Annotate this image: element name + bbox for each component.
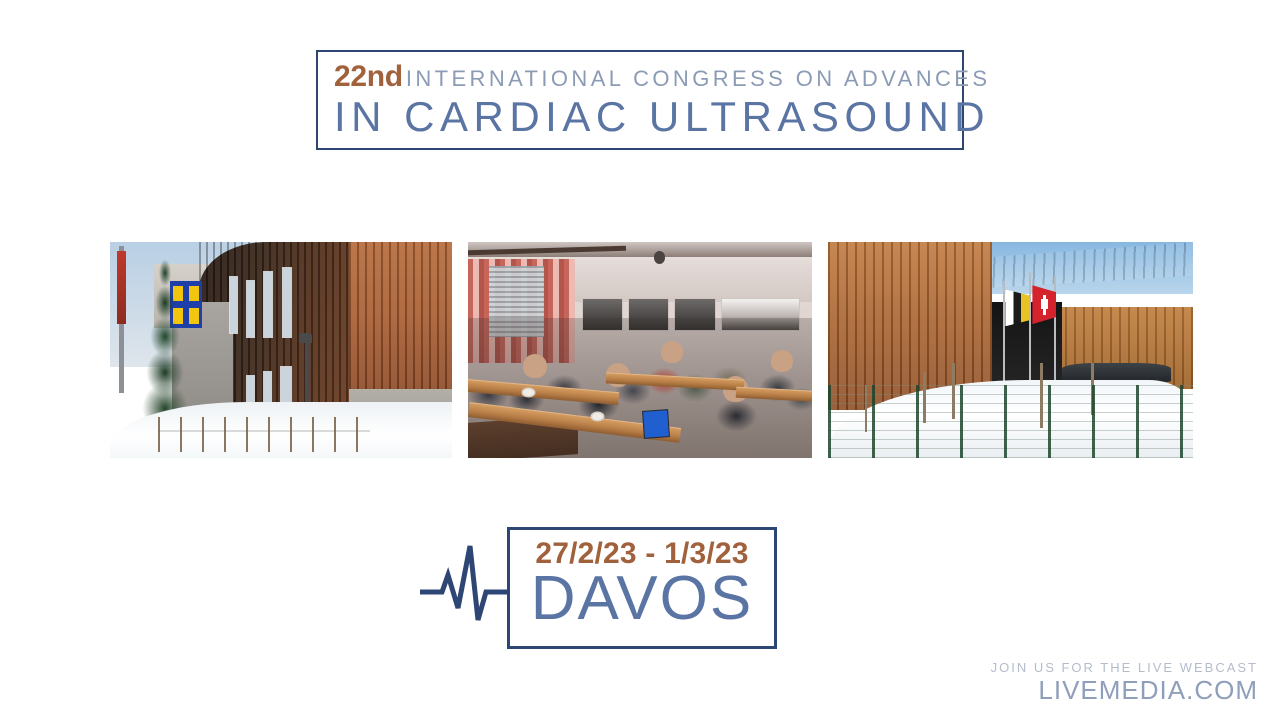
flag-pole bbox=[1029, 272, 1031, 397]
window-slot bbox=[283, 268, 291, 337]
title-first-line: 22nd INTERNATIONAL CONGRESS ON ADVANCES bbox=[334, 62, 990, 92]
edition-ordinal: 22nd bbox=[334, 62, 403, 92]
photo-2-artwork bbox=[468, 242, 812, 458]
attendee-head bbox=[523, 354, 547, 378]
event-city: DAVOS bbox=[510, 566, 774, 631]
window-slot bbox=[264, 272, 272, 337]
window-slot bbox=[247, 281, 255, 337]
metal-fence bbox=[828, 385, 1193, 458]
webcast-kicker: JOIN US FOR THE LIVE WEBCAST bbox=[991, 660, 1258, 676]
ceiling-speaker bbox=[654, 251, 666, 264]
photo-lecture-hall-audience bbox=[468, 242, 812, 458]
red-flag bbox=[117, 251, 126, 324]
congress-title-box: 22nd INTERNATIONAL CONGRESS ON ADVANCES … bbox=[316, 50, 964, 150]
coffee-cup bbox=[523, 389, 534, 396]
photo-congress-centre-exterior bbox=[110, 242, 452, 458]
photo-wooden-facade-flags bbox=[828, 242, 1193, 458]
photo-1-artwork bbox=[110, 242, 452, 458]
ecg-heartbeat-icon bbox=[418, 542, 518, 646]
webcast-domain[interactable]: LIVEMEDIA.COM bbox=[991, 676, 1258, 706]
wooden-fence bbox=[158, 417, 370, 452]
coffee-cup bbox=[592, 413, 603, 420]
title-second-line: IN CARDIAC ULTRASOUND bbox=[334, 95, 990, 139]
event-date-location-box: 27/2/23 - 1/3/23 DAVOS bbox=[507, 527, 777, 649]
attendee-head bbox=[771, 350, 793, 372]
upper-wall bbox=[575, 259, 812, 302]
photo-strip bbox=[110, 242, 1193, 458]
graubuenden-flag bbox=[1005, 290, 1029, 327]
title-subject-line: INTERNATIONAL CONGRESS ON ADVANCES bbox=[406, 68, 991, 90]
laptop-screen bbox=[642, 410, 670, 440]
window-slot bbox=[230, 277, 238, 333]
webcast-footer[interactable]: JOIN US FOR THE LIVE WEBCAST LIVEMEDIA.C… bbox=[991, 660, 1258, 706]
light-wood-facade bbox=[349, 242, 452, 393]
attendee-head bbox=[661, 341, 683, 363]
photo-3-artwork bbox=[828, 242, 1193, 458]
